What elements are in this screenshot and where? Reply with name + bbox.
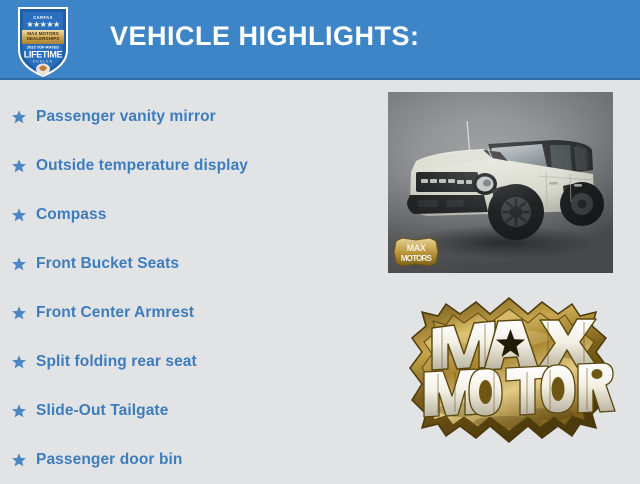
- star-bullet-icon: [8, 449, 30, 471]
- vehicle-highlights-slide: CARFAX ★★★★★ MAX MOTORS DEALERSHIPS 2023…: [0, 0, 640, 480]
- list-item: Compass: [0, 190, 370, 239]
- star-bullet-icon: [8, 106, 30, 128]
- list-item-label: Split folding rear seat: [36, 353, 197, 371]
- svg-text:★★★★★: ★★★★★: [26, 20, 60, 29]
- list-item: Passenger door bin: [0, 435, 370, 484]
- star-bullet-icon: [8, 155, 30, 177]
- list-item-label: Passenger door bin: [36, 451, 183, 469]
- list-item: Front Bucket Seats: [0, 239, 370, 288]
- list-item-label: Front Bucket Seats: [36, 255, 179, 273]
- list-item: Split folding rear seat: [0, 337, 370, 386]
- max-motors-logo: [398, 292, 620, 462]
- header-bar: CARFAX ★★★★★ MAX MOTORS DEALERSHIPS 2023…: [0, 0, 640, 80]
- carfax-lifetime-dealer-badge: CARFAX ★★★★★ MAX MOTORS DEALERSHIPS 2023…: [17, 6, 69, 78]
- list-item: Front Center Armrest: [0, 288, 370, 337]
- svg-text:DEALER: DEALER: [33, 60, 53, 64]
- star-bullet-icon: [8, 204, 30, 226]
- list-item-label: Front Center Armrest: [36, 304, 194, 322]
- list-item: Slide-Out Tailgate: [0, 386, 370, 435]
- list-item-label: Compass: [36, 206, 106, 224]
- svg-text:MOTORS: MOTORS: [401, 254, 433, 263]
- star-bullet-icon: [8, 302, 30, 324]
- list-item-label: Passenger vanity mirror: [36, 108, 216, 126]
- star-bullet-icon: [8, 253, 30, 275]
- star-bullet-icon: [8, 351, 30, 373]
- svg-text:MAX: MAX: [407, 243, 426, 253]
- svg-text:DEALERSHIPS: DEALERSHIPS: [27, 36, 60, 41]
- vehicle-highlights-list: Passenger vanity mirror Outside temperat…: [0, 92, 370, 484]
- star-bullet-icon: [8, 400, 30, 422]
- vehicle-photo[interactable]: MAX MOTORS: [388, 92, 613, 273]
- photo-watermark-max-motors-logo: MAX MOTORS: [392, 237, 440, 267]
- page-title: VEHICLE HIGHLIGHTS:: [110, 23, 420, 50]
- list-item: Passenger vanity mirror: [0, 92, 370, 141]
- list-item-label: Outside temperature display: [36, 157, 248, 175]
- list-item-label: Slide-Out Tailgate: [36, 402, 168, 420]
- svg-text:LIFETIME: LIFETIME: [24, 50, 63, 60]
- list-item: Outside temperature display: [0, 141, 370, 190]
